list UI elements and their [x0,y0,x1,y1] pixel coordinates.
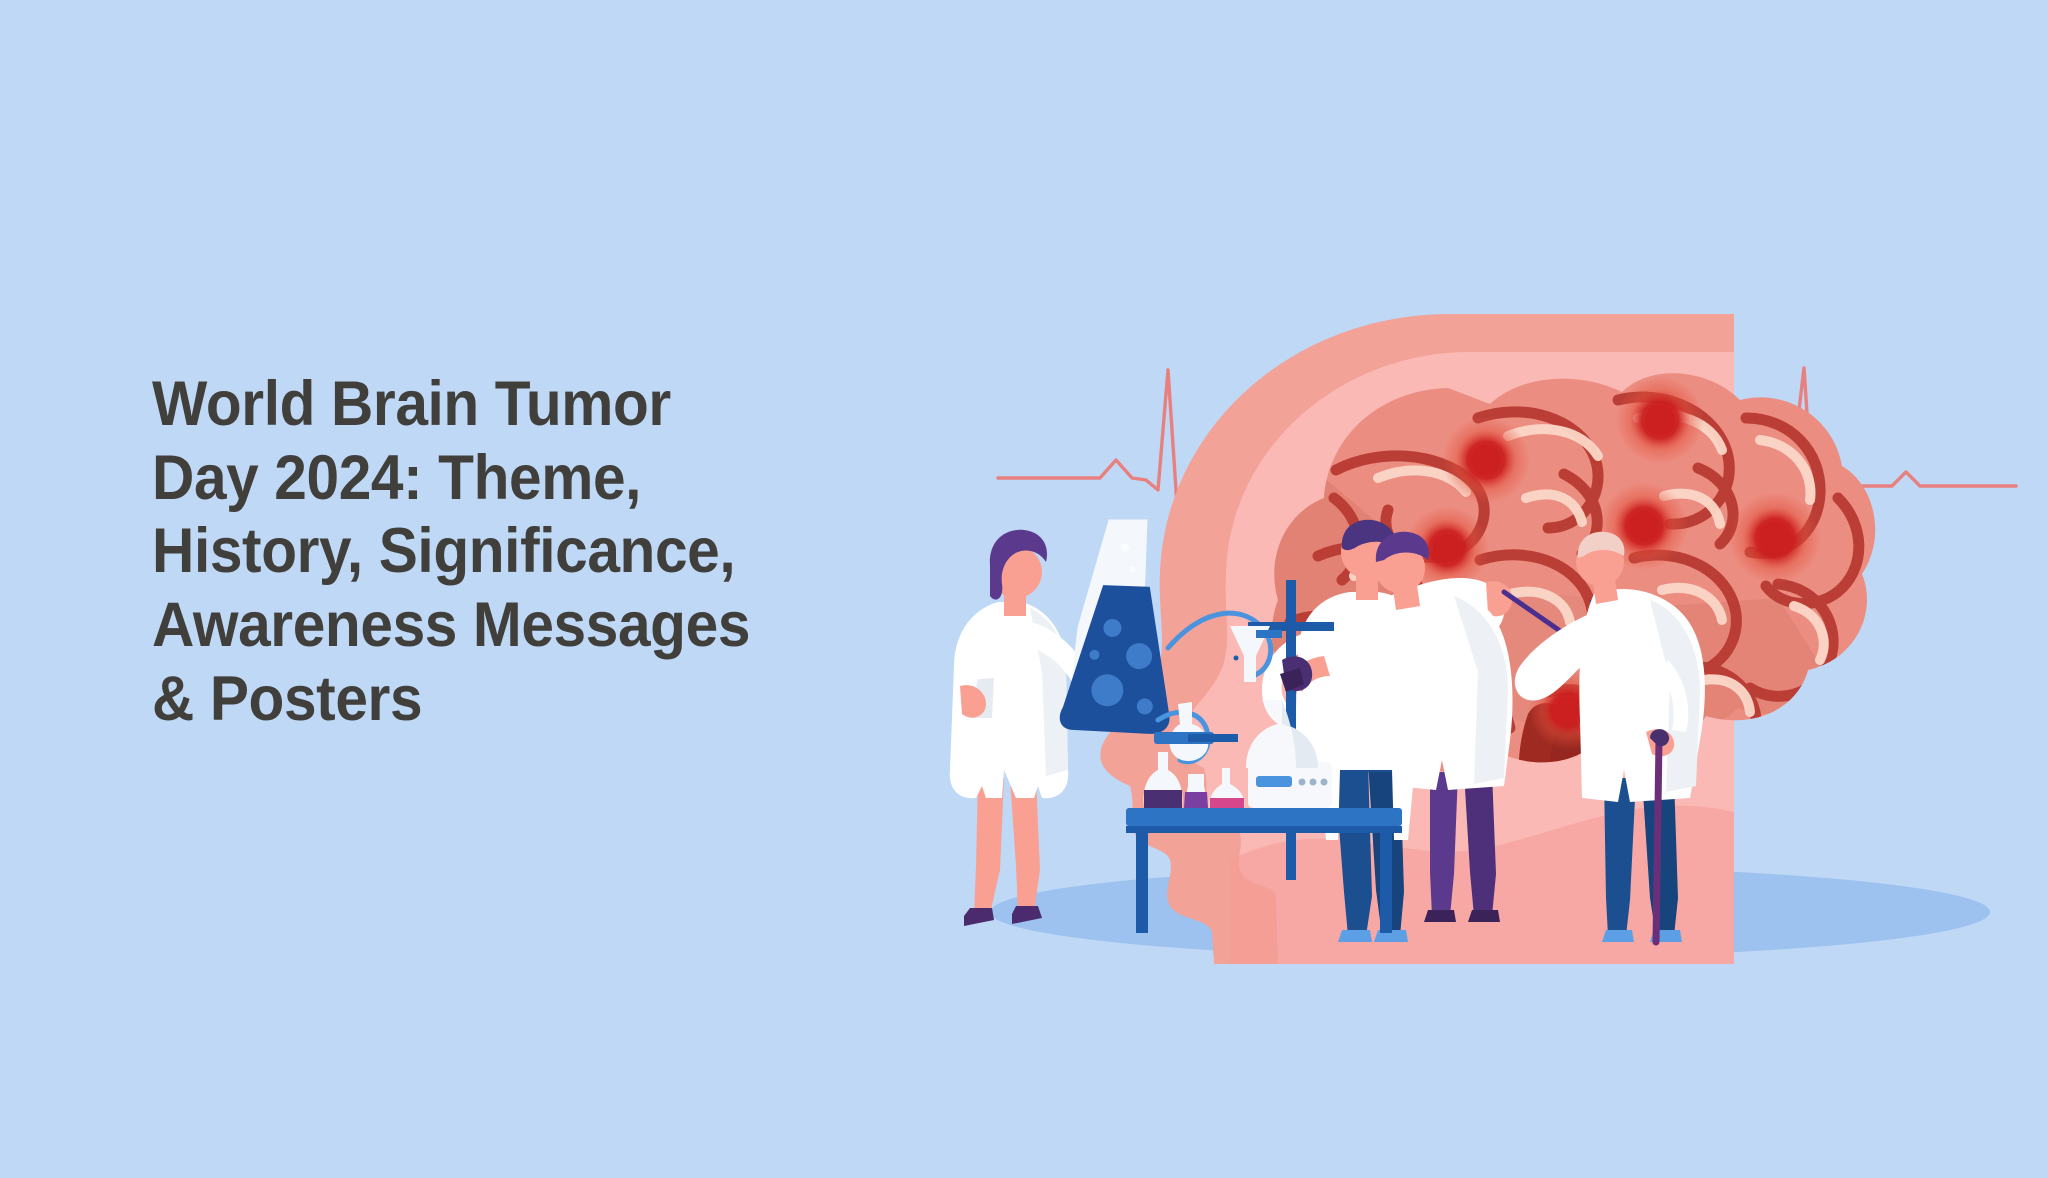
tumor-spot [1729,492,1821,584]
tumor-spot [1442,416,1530,504]
tumor-spot [1616,376,1704,464]
banner-root: World Brain Tumor Day 2024: Theme, Histo… [0,0,2048,1178]
brain-tumor-research-illustration [930,300,2048,1000]
page-title: World Brain Tumor Day 2024: Theme, Histo… [152,368,952,737]
